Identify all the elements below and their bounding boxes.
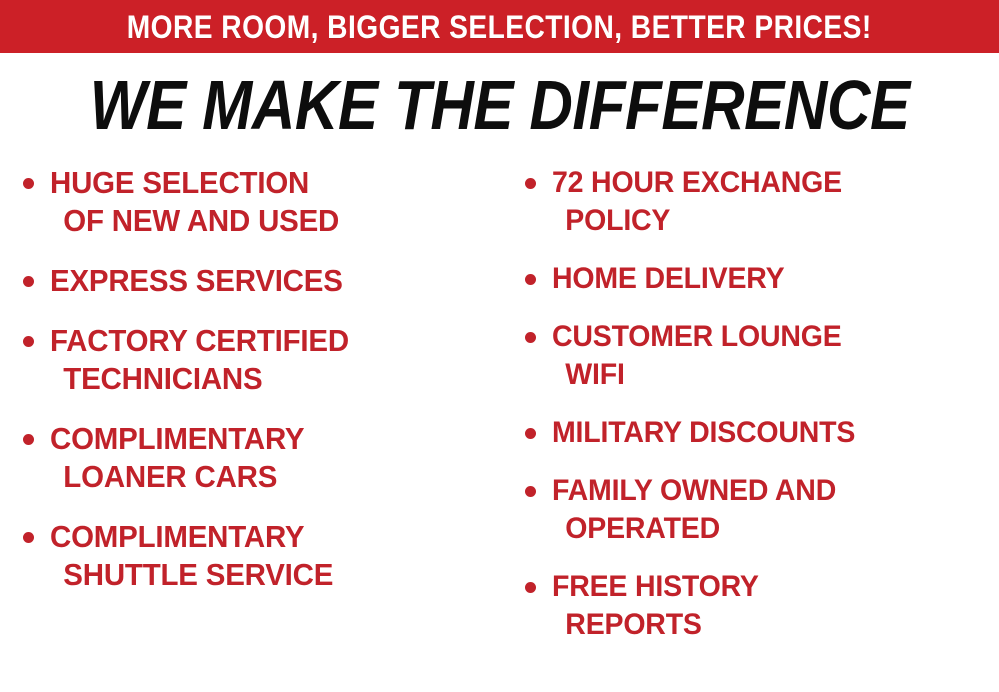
- benefit-list-item: HUGE SELECTIONOF NEW AND USED: [10, 164, 502, 240]
- benefit-list-item: MILITARY DISCOUNTS: [512, 414, 999, 452]
- benefit-text-line: CUSTOMER LOUNGE: [552, 318, 977, 356]
- bullet-dot-icon: [23, 276, 34, 287]
- benefit-list-item: CUSTOMER LOUNGEWIFI: [512, 318, 999, 394]
- benefit-text-line: EXPRESS SERVICES: [50, 262, 479, 300]
- benefits-column-right: 72 HOUR EXCHANGEPOLICYHOME DELIVERYCUSTO…: [512, 156, 999, 644]
- benefit-text: MILITARY DISCOUNTS: [552, 414, 999, 452]
- benefit-text-line: COMPLIMENTARY: [50, 420, 479, 458]
- benefit-list-item: EXPRESS SERVICES: [10, 262, 502, 300]
- benefit-text: 72 HOUR EXCHANGEPOLICY: [552, 164, 999, 240]
- benefit-text-line: REPORTS: [552, 606, 977, 644]
- benefit-text-line: HOME DELIVERY: [552, 260, 977, 298]
- benefit-text-line: OPERATED: [552, 510, 977, 548]
- bullet-dot-icon: [23, 532, 34, 543]
- benefit-list-item: FREE HISTORYREPORTS: [512, 568, 999, 644]
- main-headline-text: WE MAKE THE DIFFERENCE: [90, 70, 910, 140]
- benefit-text-line: FACTORY CERTIFIED: [50, 322, 479, 360]
- benefit-list-item: FACTORY CERTIFIEDTECHNICIANS: [10, 322, 502, 398]
- bullet-dot-icon: [525, 332, 536, 343]
- benefit-list-item: 72 HOUR EXCHANGEPOLICY: [512, 164, 999, 240]
- bullet-dot-icon: [23, 178, 34, 189]
- benefits-column-left: HUGE SELECTIONOF NEW AND USEDEXPRESS SER…: [10, 156, 502, 594]
- benefit-list-item: COMPLIMENTARYLOANER CARS: [10, 420, 502, 496]
- benefits-columns: HUGE SELECTIONOF NEW AND USEDEXPRESS SER…: [0, 156, 999, 692]
- benefit-text-line: OF NEW AND USED: [50, 202, 479, 240]
- benefit-text: EXPRESS SERVICES: [50, 262, 502, 300]
- promotional-poster: MORE ROOM, BIGGER SELECTION, BETTER PRIC…: [0, 0, 999, 692]
- top-banner: MORE ROOM, BIGGER SELECTION, BETTER PRIC…: [0, 0, 999, 53]
- bullet-dot-icon: [23, 336, 34, 347]
- benefit-text-line: LOANER CARS: [50, 458, 479, 496]
- banner-headline-text: MORE ROOM, BIGGER SELECTION, BETTER PRIC…: [127, 11, 872, 43]
- bullet-dot-icon: [525, 178, 536, 189]
- benefit-text: FACTORY CERTIFIEDTECHNICIANS: [50, 322, 502, 398]
- benefit-text-line: HUGE SELECTION: [50, 164, 479, 202]
- benefit-text-line: TECHNICIANS: [50, 360, 479, 398]
- bullet-dot-icon: [525, 486, 536, 497]
- benefit-text-line: POLICY: [552, 202, 977, 240]
- benefit-text: FREE HISTORYREPORTS: [552, 568, 999, 644]
- benefit-list-item: HOME DELIVERY: [512, 260, 999, 298]
- bullet-dot-icon: [525, 428, 536, 439]
- benefit-text: CUSTOMER LOUNGEWIFI: [552, 318, 999, 394]
- main-headline: WE MAKE THE DIFFERENCE: [0, 70, 999, 140]
- bullet-dot-icon: [23, 434, 34, 445]
- benefit-text: COMPLIMENTARYLOANER CARS: [50, 420, 502, 496]
- benefit-text: COMPLIMENTARYSHUTTLE SERVICE: [50, 518, 502, 594]
- benefit-text: FAMILY OWNED ANDOPERATED: [552, 472, 999, 548]
- benefit-list-item: COMPLIMENTARYSHUTTLE SERVICE: [10, 518, 502, 594]
- benefit-text: HUGE SELECTIONOF NEW AND USED: [50, 164, 502, 240]
- benefit-text-line: SHUTTLE SERVICE: [50, 556, 479, 594]
- benefit-text: HOME DELIVERY: [552, 260, 999, 298]
- benefit-list-item: FAMILY OWNED ANDOPERATED: [512, 472, 999, 548]
- bullet-dot-icon: [525, 582, 536, 593]
- benefit-text-line: FREE HISTORY: [552, 568, 977, 606]
- bullet-dot-icon: [525, 274, 536, 285]
- benefit-text-line: WIFI: [552, 356, 977, 394]
- benefit-text-line: COMPLIMENTARY: [50, 518, 479, 556]
- benefit-text-line: MILITARY DISCOUNTS: [552, 414, 977, 452]
- benefit-text-line: FAMILY OWNED AND: [552, 472, 977, 510]
- benefit-text-line: 72 HOUR EXCHANGE: [552, 164, 977, 202]
